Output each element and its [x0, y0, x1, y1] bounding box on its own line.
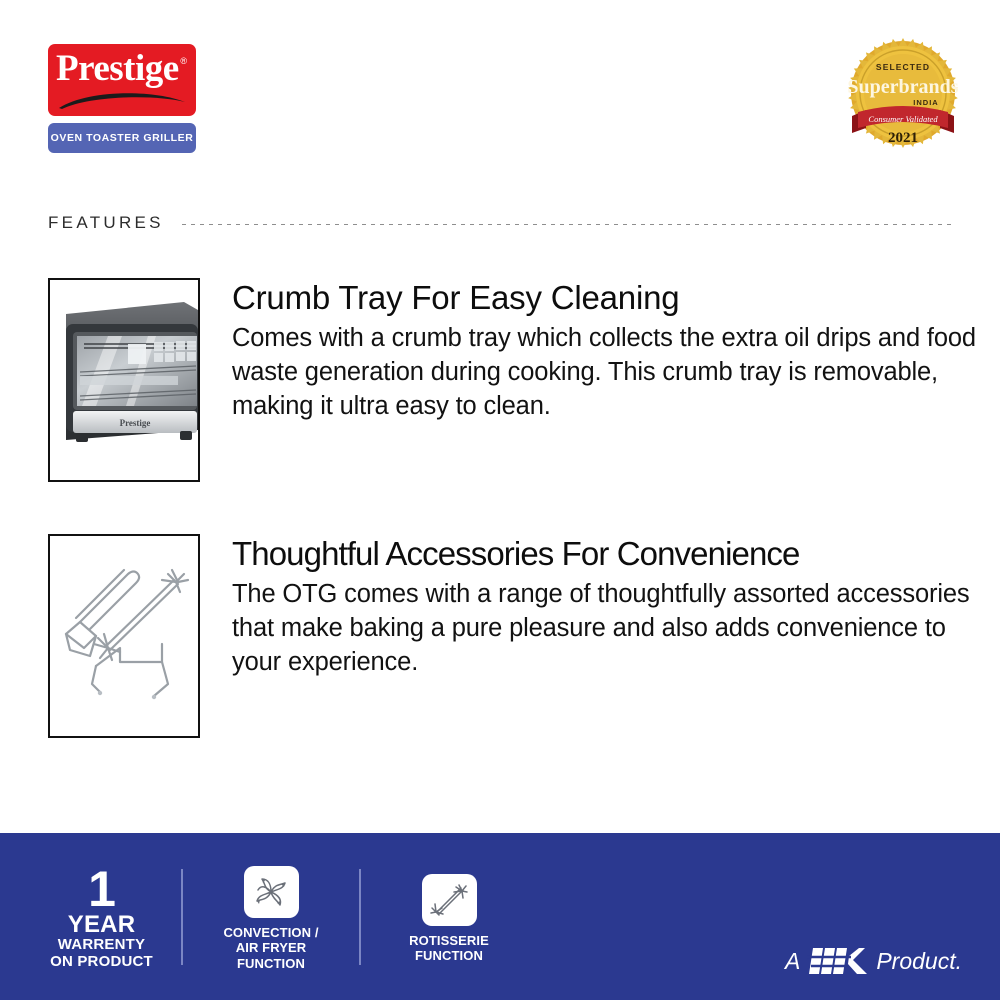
feature-text-block: Crumb Tray For Easy Cleaning Comes with … — [232, 278, 1000, 482]
rotisserie-label-line-1: ROTISSERIE — [383, 933, 515, 948]
rotisserie-function-badge: ROTISSERIE FUNCTION — [383, 870, 515, 963]
convection-label-line-1: CONVECTION / — [205, 925, 337, 940]
product-feature-page: Prestige ® OVEN TOASTER GRILLER — [0, 0, 1000, 1000]
bottom-banner: 1 YEAR WARRENTY ON PRODUCT — [0, 833, 1000, 1000]
svg-text:Prestige: Prestige — [120, 418, 151, 428]
warranty-line-3: ON PRODUCT — [44, 954, 159, 971]
svg-text:SELECTED: SELECTED — [876, 62, 930, 72]
brand-mark: Prestige ® — [48, 44, 196, 116]
brand-subtitle-badge: OVEN TOASTER GRILLER — [48, 123, 196, 153]
swoosh-icon — [57, 88, 187, 110]
rotisserie-skewer-icon — [422, 874, 477, 926]
warranty-number: 1 — [44, 866, 159, 912]
warranty-unit: YEAR — [44, 912, 159, 937]
banner-divider — [181, 869, 183, 965]
brand-subtitle-label: OVEN TOASTER GRILLER — [51, 132, 194, 144]
convection-label-line-2: AIR FRYER FUNCTION — [205, 940, 337, 970]
rotisserie-accessories-photo — [48, 534, 200, 738]
svg-text:Consumer Validated: Consumer Validated — [868, 114, 938, 124]
ttk-prefix: A — [785, 948, 800, 975]
convection-function-badge: CONVECTION / AIR FRYER FUNCTION — [205, 862, 337, 970]
feature-item: Prestige Crumb Tray For Easy Cleaning Co… — [48, 278, 1000, 482]
banner-divider — [359, 869, 361, 965]
feature-description: The OTG comes with a range of thoughtful… — [232, 577, 1000, 679]
features-section-header: FEATURES — [48, 208, 956, 238]
feature-title: Thoughtful Accessories For Convenience — [232, 536, 1000, 572]
feature-title: Crumb Tray For Easy Cleaning — [232, 280, 1000, 316]
svg-text:INDIA: INDIA — [913, 98, 938, 107]
superbrands-seal: SELECTED Superbrands INDIA Consumer Vali… — [848, 36, 958, 154]
oven-toaster-griller-photo: Prestige — [48, 278, 200, 482]
page-header: Prestige ® OVEN TOASTER GRILLER — [0, 0, 1000, 190]
registered-trademark-icon: ® — [180, 56, 187, 66]
rotisserie-label-line-2: FUNCTION — [383, 948, 515, 963]
features-heading: FEATURES — [48, 213, 164, 233]
ttk-footer: A Product. — [785, 944, 962, 978]
ttk-logo-icon — [807, 944, 869, 978]
feature-description: Comes with a crumb tray which collects t… — [232, 321, 1000, 423]
feature-text-block: Thoughtful Accessories For Convenience T… — [232, 534, 1000, 738]
features-divider-line — [182, 224, 956, 225]
svg-text:Superbrands: Superbrands — [848, 76, 958, 98]
feature-item: Thoughtful Accessories For Convenience T… — [48, 534, 1000, 738]
ttk-suffix: Product. — [876, 948, 962, 975]
svg-text:2021: 2021 — [888, 130, 918, 146]
convection-fan-icon — [244, 866, 299, 918]
banner-badges: 1 YEAR WARRENTY ON PRODUCT — [44, 833, 515, 1000]
warranty-badge: 1 YEAR WARRENTY ON PRODUCT — [44, 862, 159, 971]
warranty-line-2: WARRENTY — [44, 937, 159, 954]
brand-name: Prestige — [56, 50, 179, 87]
prestige-logo: Prestige ® OVEN TOASTER GRILLER — [48, 44, 196, 153]
